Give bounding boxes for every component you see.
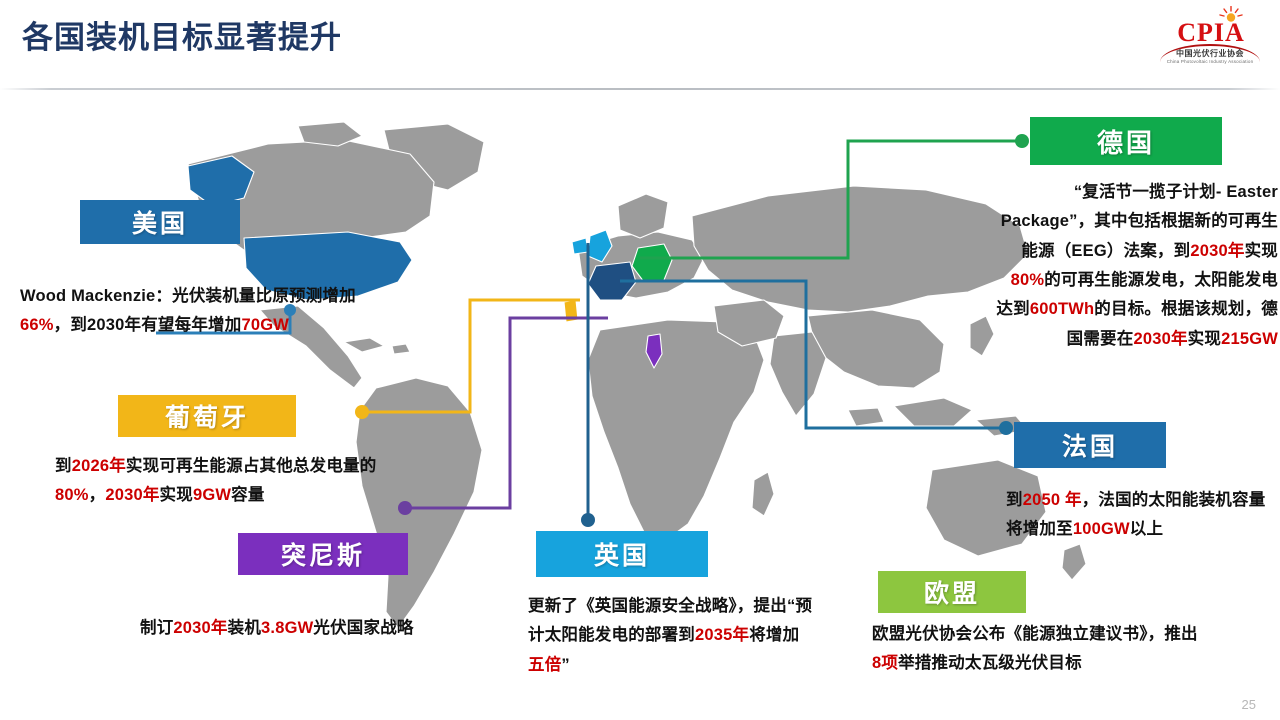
logo-chinese-name: 中国光伏行业协会 (1158, 48, 1262, 59)
badge-united-states[interactable]: 美国 (80, 200, 240, 244)
callout-text-portugal: 到2026年实现可再生能源占其他总发电量的80%，2030年实现9GW容量 (55, 452, 385, 511)
header-divider (0, 88, 1280, 90)
logo-english-name: China Photovoltaic Industry Association (1158, 59, 1262, 64)
page-title: 各国装机目标显著提升 (22, 21, 342, 55)
callout-text-tunisia: 制订2030年装机3.8GW光伏国家战略 (140, 614, 520, 643)
badge-france[interactable]: 法国 (1014, 422, 1166, 468)
badge-european-union[interactable]: 欧盟 (878, 571, 1026, 613)
callout-text-germany: “复活节一揽子计划- Easter Package”，其中包括根据新的可再生能源… (996, 178, 1278, 354)
badge-tunisia[interactable]: 突尼斯 (238, 533, 408, 575)
slide-root: 各国装机目标显著提升 CPIA 中国光伏行业协会 China Photovolt… (0, 0, 1280, 720)
cpia-logo: CPIA 中国光伏行业协会 China Photovoltaic Industr… (1158, 4, 1262, 70)
badge-portugal[interactable]: 葡萄牙 (118, 395, 296, 437)
badge-germany[interactable]: 德国 (1030, 117, 1222, 165)
map-highlight-portugal (564, 300, 578, 322)
callout-text-united-kingdom: 更新了《英国能源安全战略》，提出“预计太阳能发电的部署到2035年将增加五倍” (528, 592, 816, 680)
callout-text-united-states: Wood Mackenzie：光伏装机量比原预测增加66%，到2030年有望每年… (20, 282, 372, 341)
page-number: 25 (1242, 697, 1256, 712)
badge-united-kingdom[interactable]: 英国 (536, 531, 708, 577)
callout-text-european-union: 欧盟光伏协会公布《能源独立建议书》，推出8项举措推动太瓦级光伏目标 (872, 620, 1202, 679)
callout-text-france: 到2050 年，法国的太阳能装机容量将增加至100GW以上 (1006, 486, 1274, 545)
map-highlight-ireland-uk (572, 238, 588, 254)
